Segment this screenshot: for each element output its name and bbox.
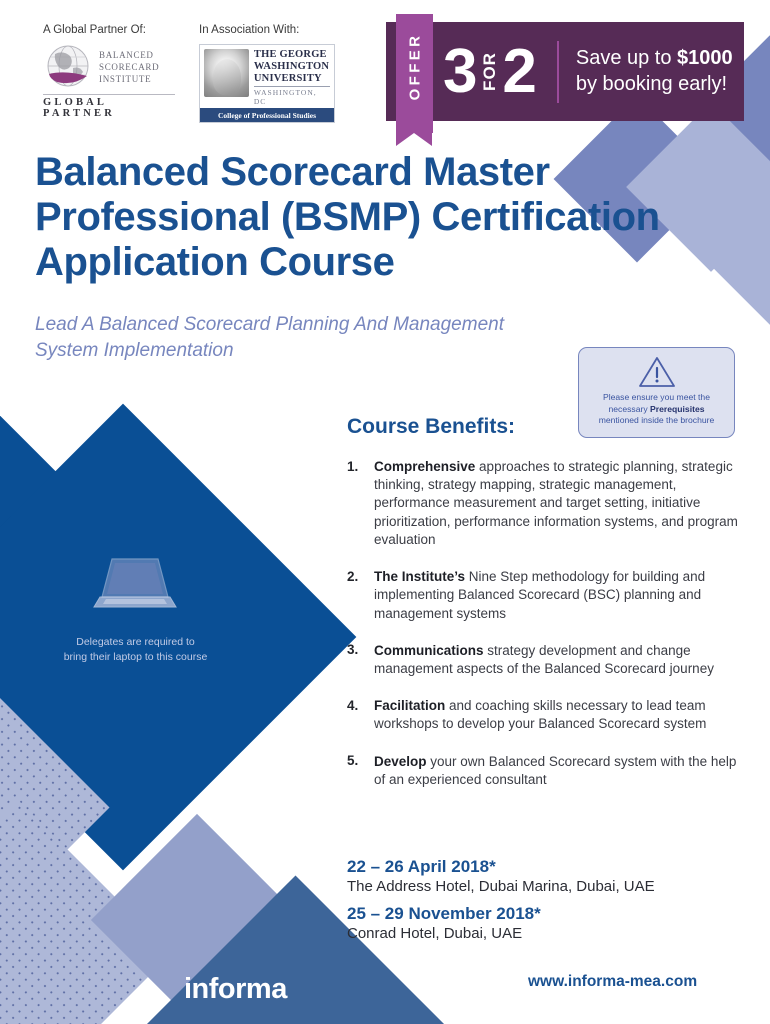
gwu-city: WASHINGTON, DC <box>254 88 330 106</box>
course-benefits-heading: Course Benefits: <box>347 415 515 439</box>
three-for-two-graphic: 3 FOR 2 <box>443 41 535 103</box>
partner-logos: A Global Partner Of: <box>0 0 386 130</box>
session-date: 22 – 26 April 2018* <box>347 857 747 877</box>
course-benefits-list: 1. Comprehensive approaches to strategic… <box>347 458 745 808</box>
page-subtitle: Lead A Balanced Scorecard Planning And M… <box>35 312 505 363</box>
benefit-keyword: Communications <box>374 643 484 658</box>
laptop-icon <box>33 555 238 617</box>
session-dates: 22 – 26 April 2018* The Address Hotel, D… <box>347 855 747 951</box>
bsi-line-3: INSTITUTE <box>99 74 159 86</box>
bsi-global-partner-label: GLOBAL PARTNER <box>43 97 175 119</box>
gwu-line-1: THE GEORGE <box>254 49 330 61</box>
session-date: 25 – 29 November 2018* <box>347 904 747 924</box>
gwu-line-3: UNIVERSITY <box>254 73 330 85</box>
gwu-partner-block: In Association With: THE GEORGE WASHINGT… <box>199 24 349 123</box>
benefit-keyword: Facilitation <box>374 698 445 713</box>
prerequisite-line-3: mentioned inside the brochure <box>599 415 715 425</box>
prerequisite-line-2-prefix: necessary <box>608 404 650 414</box>
benefit-text: Develop your own Balanced Scorecard syst… <box>374 753 745 789</box>
bsi-logo-text: BALANCED SCORECARD INSTITUTE <box>99 50 159 86</box>
offer-number-right: 2 <box>502 41 534 103</box>
benefit-text: Comprehensive approaches to strategic pl… <box>374 458 745 549</box>
benefit-item: 2. The Institute’s Nine Step methodology… <box>347 568 745 623</box>
prerequisite-callout: Please ensure you meet the necessary Pre… <box>578 347 735 438</box>
session-venue: The Address Hotel, Dubai Marina, Dubai, … <box>347 878 747 895</box>
brochure-page: A Global Partner Of: <box>0 0 770 1024</box>
page-title: Balanced Scorecard Master Professional (… <box>35 150 725 284</box>
benefit-item: 5. Develop your own Balanced Scorecard s… <box>347 753 745 789</box>
globe-icon <box>43 44 95 92</box>
website-link[interactable]: www.informa-mea.com <box>528 973 697 991</box>
benefit-text: The Institute’s Nine Step methodology fo… <box>374 568 745 623</box>
gwu-divider <box>254 86 330 87</box>
offer-save-line-2: by booking early! <box>576 72 733 97</box>
offer-ribbon: OFFER <box>396 14 433 133</box>
bsi-line-1: BALANCED <box>99 50 159 62</box>
laptop-note-line-2: bring their laptop to this course <box>64 651 208 663</box>
warning-triangle-icon <box>579 355 734 389</box>
benefit-keyword: Develop <box>374 754 427 769</box>
prerequisite-keyword: Prerequisites <box>650 404 704 414</box>
benefit-keyword: The Institute’s <box>374 569 465 584</box>
offer-save-line-1: Save up to $1000 <box>576 46 733 71</box>
prerequisite-text: Please ensure you meet the necessary Pre… <box>579 392 734 427</box>
washington-bust-icon <box>204 49 249 97</box>
benefit-number: 4. <box>347 697 374 733</box>
offer-savings-text: Save up to $1000 by booking early! <box>576 46 733 96</box>
benefit-number: 5. <box>347 753 374 789</box>
bsi-caption: A Global Partner Of: <box>43 24 183 36</box>
gwu-caption: In Association With: <box>199 24 349 36</box>
benefit-keyword: Comprehensive <box>374 459 475 474</box>
benefit-text: Communications strategy development and … <box>374 642 745 678</box>
offer-tag-label: OFFER <box>407 17 424 117</box>
benefit-number: 3. <box>347 642 374 678</box>
gwu-line-2: WASHINGTON <box>254 61 330 73</box>
offer-for-word: FOR <box>481 52 498 91</box>
bsi-partner-block: A Global Partner Of: <box>43 24 183 119</box>
offer-divider <box>557 41 559 103</box>
informa-logo: informa <box>184 973 287 1006</box>
benefit-number: 2. <box>347 568 374 623</box>
bsi-line-2: SCORECARD <box>99 62 159 74</box>
prerequisite-line-1: Please ensure you meet the <box>603 392 710 402</box>
offer-content: 3 FOR 2 Save up to $1000 by booking earl… <box>443 24 743 119</box>
benefit-text: Facilitation and coaching skills necessa… <box>374 697 745 733</box>
laptop-note-text: Delegates are required to bring their la… <box>33 635 238 665</box>
offer-save-prefix: Save up to <box>576 47 677 69</box>
session-venue: Conrad Hotel, Dubai, UAE <box>347 925 747 942</box>
laptop-note-line-1: Delegates are required to <box>76 636 195 648</box>
benefit-item: 4. Facilitation and coaching skills nece… <box>347 697 745 733</box>
offer-save-amount: $1000 <box>677 47 733 69</box>
benefit-item: 3. Communications strategy development a… <box>347 642 745 678</box>
offer-number-left: 3 <box>443 41 475 103</box>
laptop-requirement-note: Delegates are required to bring their la… <box>33 555 238 665</box>
benefit-body: your own Balanced Scorecard system with … <box>374 754 736 787</box>
benefit-item: 1. Comprehensive approaches to strategic… <box>347 458 745 549</box>
benefit-number: 1. <box>347 458 374 549</box>
bsi-divider <box>43 94 175 95</box>
gwu-college-bar: College of Professional Studies <box>200 108 334 122</box>
